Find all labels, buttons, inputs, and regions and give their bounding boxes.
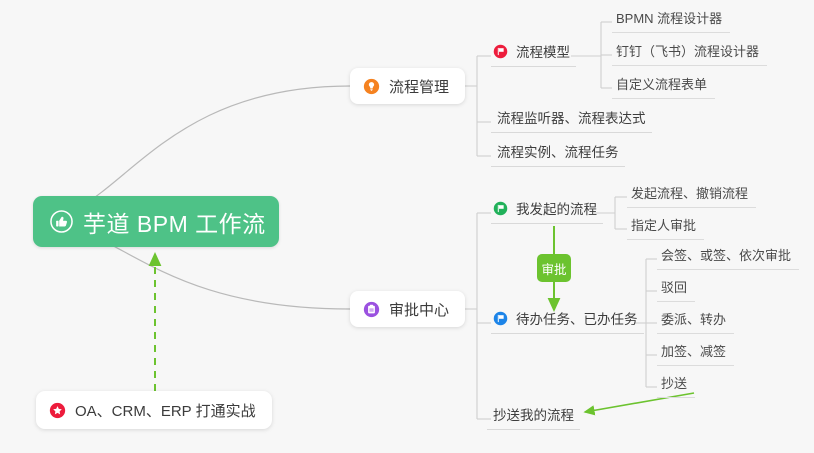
leaf-node-custom-form[interactable]: 自定义流程表单 <box>612 72 715 99</box>
sub-label-process-instance: 流程实例、流程任务 <box>497 141 619 161</box>
sub-label-cc-to-me: 抄送我的流程 <box>493 404 574 424</box>
flag-icon <box>493 201 508 216</box>
leaf-node-cc[interactable]: 抄送 <box>657 371 695 398</box>
root-label: 芋道 BPM 工作流 <box>83 205 266 239</box>
flag-icon <box>493 44 508 59</box>
sub-label-process-listener: 流程监听器、流程表达式 <box>497 107 646 127</box>
leaf-node-assignee-approval[interactable]: 指定人审批 <box>627 213 704 240</box>
leaf-node-dingtalk-feishu-designer[interactable]: 钉钉（飞书）流程设计器 <box>612 39 767 66</box>
sub-node-process-instance[interactable]: 流程实例、流程任务 <box>491 139 625 167</box>
leaf-node-start-cancel-process[interactable]: 发起流程、撤销流程 <box>627 181 756 208</box>
sub-node-cc-to-me[interactable]: 抄送我的流程 <box>487 402 580 430</box>
leaf-node-reject[interactable]: 驳回 <box>657 275 695 302</box>
callout-card-integration[interactable]: OA、CRM、ERP 打通实战 <box>36 391 272 429</box>
root-node[interactable]: 芋道 BPM 工作流 <box>33 196 279 247</box>
leaf-node-countersign[interactable]: 会签、或签、依次审批 <box>657 243 799 270</box>
branch-node-process-management[interactable]: 流程管理 <box>350 68 465 104</box>
lightbulb-pin-icon <box>363 78 380 95</box>
star-icon <box>49 402 66 419</box>
branch-node-approval-center[interactable]: 审批中心 <box>350 291 465 327</box>
sub-node-todo-done-tasks[interactable]: 待办任务、已办任务 <box>491 306 644 334</box>
approval-annotation-label: 审批 <box>541 259 566 278</box>
clipboard-icon <box>363 301 380 318</box>
branch-label-approval-center: 审批中心 <box>389 299 449 320</box>
sub-label-process-model: 流程模型 <box>516 41 570 61</box>
mindmap-canvas: 芋道 BPM 工作流 流程管理 流程模型 流程监听器、流程表达式 流程实例、流 <box>0 0 814 453</box>
branch-label-process-management: 流程管理 <box>389 76 449 97</box>
approval-annotation-tag: 审批 <box>537 254 571 282</box>
sub-node-my-initiated[interactable]: 我发起的流程 <box>491 196 603 224</box>
callout-label-integration: OA、CRM、ERP 打通实战 <box>75 400 256 421</box>
leaf-node-bpmn-designer[interactable]: BPMN 流程设计器 <box>612 6 730 33</box>
sub-node-process-model[interactable]: 流程模型 <box>491 39 576 67</box>
thumbs-up-icon <box>50 210 73 233</box>
leaf-node-add-remove-sign[interactable]: 加签、减签 <box>657 339 734 366</box>
sub-label-todo-done-tasks: 待办任务、已办任务 <box>516 308 638 328</box>
sub-node-process-listener[interactable]: 流程监听器、流程表达式 <box>491 105 652 133</box>
flag-icon <box>493 311 508 326</box>
leaf-node-delegate-transfer[interactable]: 委派、转办 <box>657 307 734 334</box>
sub-label-my-initiated: 我发起的流程 <box>516 198 597 218</box>
